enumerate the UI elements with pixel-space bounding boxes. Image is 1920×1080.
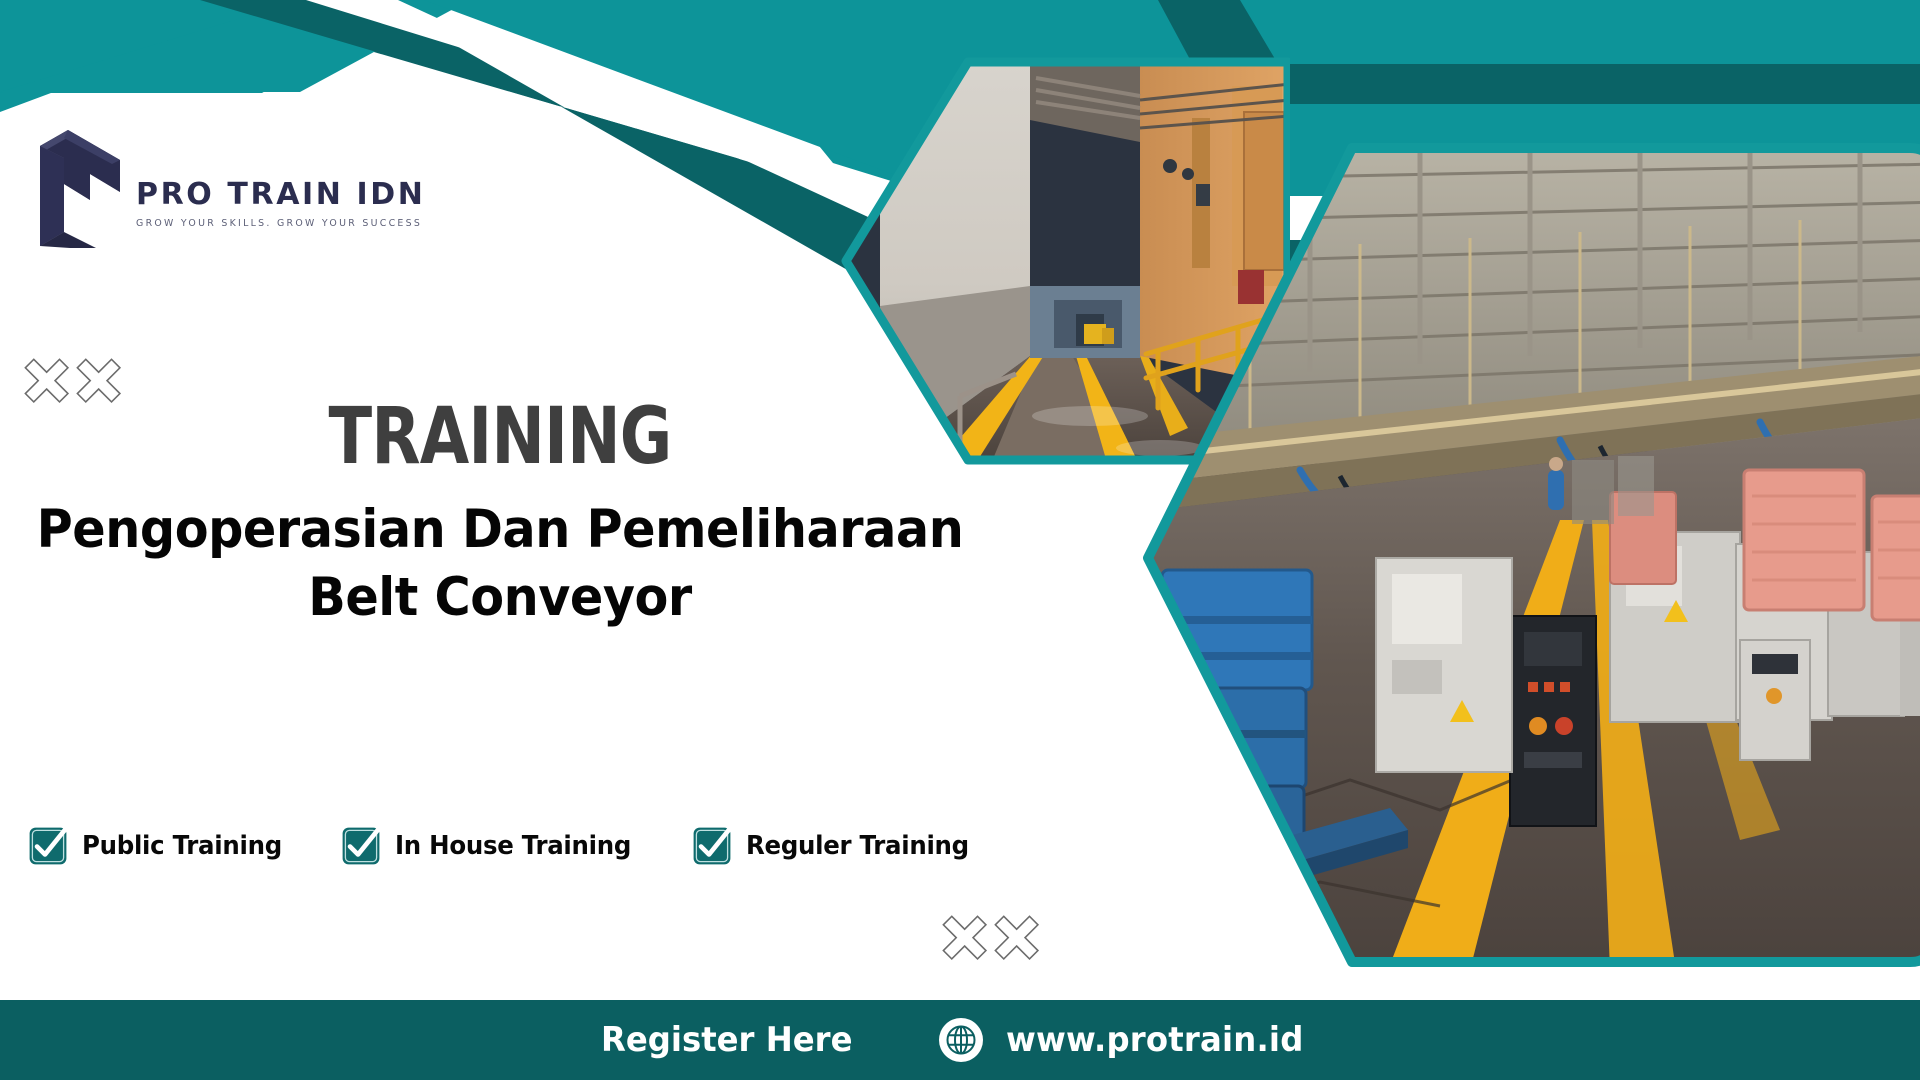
band-teal-corner-topright: [1240, 0, 1920, 64]
brand-logo: PRO TRAIN IDN GROW YOUR SKILLS. GROW YOU…: [34, 118, 426, 248]
training-option-label: Reguler Training: [746, 831, 969, 861]
course-title: Pengoperasian Dan Pemeliharaan Belt Conv…: [35, 496, 965, 632]
poster-canvas: PRO TRAIN IDN GROW YOUR SKILLS. GROW YOU…: [0, 0, 1920, 1080]
x-cross-outline-icon: [943, 916, 986, 959]
checkbox-checked-icon[interactable]: [692, 826, 732, 866]
register-here-label[interactable]: Register Here: [601, 1020, 852, 1060]
training-option-public[interactable]: Public Training: [28, 826, 295, 866]
training-option-reguler[interactable]: Reguler Training: [692, 826, 983, 866]
globe-icon: [938, 1017, 984, 1063]
brand-name: PRO TRAIN IDN: [136, 180, 426, 210]
factory-floor-photo: [1140, 140, 1920, 970]
brand-tagline: GROW YOUR SKILLS. GROW YOUR SUCCESS: [136, 219, 426, 228]
x-cross-outline-decoration-bottom: [940, 905, 1044, 972]
course-title-line-1: Pengoperasian Dan Pemeliharaan: [35, 496, 965, 564]
footer-bar: Register Here www.protrain.id: [0, 1000, 1920, 1080]
headline-block: TRAINING Pengoperasian Dan Pemeliharaan …: [0, 400, 1000, 632]
training-option-in-house[interactable]: In House Training: [341, 826, 646, 866]
footer-content: Register Here www.protrain.id: [601, 1017, 1319, 1063]
x-cross-outline-icon: [77, 359, 120, 402]
eyebrow-training: TRAINING: [90, 400, 910, 474]
x-cross-outline-icon: [25, 359, 68, 402]
website-url[interactable]: www.protrain.id: [1006, 1020, 1304, 1060]
training-option-label: Public Training: [82, 831, 282, 861]
course-title-line-2: Belt Conveyor: [35, 564, 965, 632]
pro-train-idn-logo-mark: [34, 118, 126, 248]
x-cross-outline-icon: [995, 916, 1038, 959]
checkbox-checked-icon[interactable]: [28, 826, 68, 866]
training-option-label: In House Training: [395, 831, 631, 861]
training-options-list: Public Training In House Training Re: [28, 826, 1029, 866]
checkbox-checked-icon[interactable]: [341, 826, 381, 866]
